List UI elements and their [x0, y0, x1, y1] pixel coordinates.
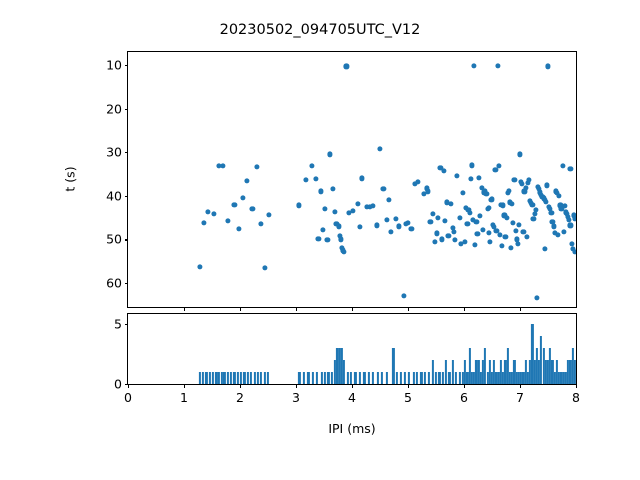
scatter-point	[325, 238, 330, 243]
histogram-bar	[237, 372, 239, 384]
histogram-bar	[264, 372, 266, 384]
histogram-bar	[396, 372, 398, 384]
scatter-point	[551, 224, 556, 229]
scatter-point	[448, 202, 453, 207]
histogram-bar	[372, 372, 374, 384]
scatter-point	[516, 222, 521, 227]
scatter-point	[515, 241, 520, 246]
scatter-point	[240, 195, 245, 200]
histogram-bar	[404, 372, 406, 384]
histogram-bar	[458, 372, 460, 384]
scatter-point	[555, 232, 560, 237]
scatter-point	[357, 225, 362, 230]
histogram-bar	[205, 372, 207, 384]
scatter-point	[499, 243, 504, 248]
scatter-point	[532, 212, 537, 217]
scatter-point	[344, 64, 349, 69]
scatter-point	[463, 239, 468, 244]
scatter-point	[511, 220, 516, 225]
histogram-x-tick-label: 4	[348, 390, 356, 405]
matplotlib-figure: 20230502_094705UTC_V12 t (s) 10203040506…	[0, 0, 640, 480]
histogram-bar	[212, 372, 214, 384]
scatter-point	[560, 164, 565, 169]
histogram-bar	[218, 372, 220, 384]
scatter-point	[250, 206, 255, 211]
scatter-point	[426, 189, 431, 194]
scatter-point	[430, 212, 435, 217]
histogram-y-tick-label: 5	[114, 316, 122, 331]
scatter-point	[351, 209, 356, 214]
histogram-bar	[298, 372, 300, 384]
histogram-bar	[307, 372, 309, 384]
scatter-point	[484, 191, 489, 196]
scatter-point	[384, 217, 389, 222]
histogram-bar	[346, 372, 348, 384]
histogram-x-tick	[240, 384, 241, 388]
scatter-y-tick	[125, 196, 129, 197]
scatter-point	[197, 264, 202, 269]
histogram-x-tick	[352, 384, 353, 388]
scatter-point	[486, 230, 491, 235]
scatter-point	[432, 239, 437, 244]
scatter-point	[562, 204, 567, 209]
scatter-plot-axes: 102030405060	[127, 51, 577, 308]
scatter-point	[572, 249, 576, 254]
histogram-x-tick	[408, 384, 409, 388]
scatter-point	[333, 209, 338, 214]
scatter-point	[211, 212, 216, 217]
scatter-point	[503, 234, 508, 239]
scatter-point	[506, 188, 511, 193]
scatter-point	[523, 185, 528, 190]
scatter-point	[327, 152, 332, 157]
histogram-bar	[250, 372, 252, 384]
histogram-bar	[230, 372, 232, 384]
histogram-x-tick	[184, 384, 185, 388]
scatter-point	[473, 242, 478, 247]
histogram-bar	[420, 372, 422, 384]
scatter-point	[487, 239, 492, 244]
scatter-point	[469, 163, 474, 168]
scatter-point	[568, 166, 573, 171]
scatter-x-tick	[408, 307, 409, 311]
scatter-point	[205, 209, 210, 214]
scatter-y-tick-label: 50	[106, 232, 122, 247]
scatter-point	[465, 221, 470, 226]
histogram-x-tick	[464, 384, 465, 388]
scatter-point	[259, 222, 264, 227]
histogram-bar	[199, 372, 201, 384]
scatter-point	[471, 63, 476, 68]
page-title: 20230502_094705UTC_V12	[0, 22, 640, 38]
histogram-x-tick-label: 5	[404, 390, 412, 405]
histogram-bar	[438, 372, 440, 384]
histogram-bar-layer	[128, 314, 576, 384]
scatter-y-tick	[125, 283, 129, 284]
scatter-point	[403, 222, 408, 227]
scatter-point	[501, 203, 506, 208]
scatter-point	[495, 63, 500, 68]
scatter-point	[201, 220, 206, 225]
scatter-point	[441, 168, 446, 173]
scatter-point	[316, 236, 321, 241]
scatter-point	[436, 215, 441, 220]
histogram-bar	[413, 372, 415, 384]
histogram-bar	[324, 372, 326, 384]
scatter-y-tick	[125, 239, 129, 240]
histogram-bar	[202, 372, 204, 384]
histogram-bar	[331, 372, 333, 384]
scatter-point	[267, 212, 272, 217]
histogram-bar	[445, 360, 447, 384]
histogram-x-tick-label: 2	[236, 390, 244, 405]
histogram-x-tick-label: 1	[180, 390, 188, 405]
x-axis-label: IPI (ms)	[328, 421, 375, 436]
histogram-bar	[253, 372, 255, 384]
scatter-y-tick-label: 30	[106, 145, 122, 160]
scatter-point	[296, 203, 301, 208]
scatter-point	[486, 205, 491, 210]
scatter-y-axis-label: t (s)	[63, 166, 78, 191]
scatter-point	[557, 193, 562, 198]
histogram-bar	[354, 372, 356, 384]
histogram-bar	[350, 372, 352, 384]
histogram-bar	[209, 372, 211, 384]
scatter-point	[401, 294, 406, 299]
scatter-point	[517, 152, 522, 157]
scatter-point	[567, 217, 572, 222]
scatter-point	[504, 215, 509, 220]
scatter-point	[475, 232, 480, 237]
histogram-bar	[240, 372, 242, 384]
scatter-y-tick-label: 60	[106, 276, 122, 291]
scatter-point	[323, 206, 328, 211]
scatter-y-tick-label: 10	[106, 58, 122, 73]
scatter-point	[377, 146, 382, 151]
histogram-bar	[227, 372, 229, 384]
histogram-bar	[223, 372, 225, 384]
scatter-point	[314, 177, 319, 182]
scatter-point	[371, 203, 376, 208]
scatter-point	[561, 229, 566, 234]
scatter-x-tick	[240, 307, 241, 311]
histogram-bar	[448, 372, 450, 384]
scatter-point	[544, 183, 549, 188]
histogram-bar	[359, 372, 361, 384]
scatter-x-tick	[464, 307, 465, 311]
scatter-point	[330, 187, 335, 192]
scatter-point	[572, 216, 576, 221]
scatter-point	[303, 177, 308, 182]
histogram-bar	[303, 372, 305, 384]
scatter-point	[415, 179, 420, 184]
scatter-point	[355, 201, 360, 206]
histogram-bar	[455, 372, 457, 384]
histogram-bar	[408, 372, 410, 384]
scatter-point	[374, 223, 379, 228]
scatter-point	[381, 187, 386, 192]
histogram-bar	[428, 372, 430, 384]
histogram-bar	[247, 372, 249, 384]
histogram-bar	[260, 372, 262, 384]
scatter-point	[342, 249, 347, 254]
scatter-point	[524, 234, 529, 239]
histogram-bar	[392, 348, 394, 384]
histogram-x-tick-label: 0	[124, 390, 132, 405]
scatter-point	[338, 237, 343, 242]
scatter-point	[460, 191, 465, 196]
scatter-point	[435, 231, 440, 236]
scatter-point	[545, 64, 550, 69]
scatter-point	[393, 216, 398, 221]
scatter-point	[318, 189, 323, 194]
scatter-point	[386, 198, 391, 203]
scatter-point	[446, 233, 451, 238]
scatter-point	[512, 178, 517, 183]
histogram-bar	[343, 360, 345, 384]
histogram-bar	[312, 372, 314, 384]
scatter-point	[480, 227, 485, 232]
histogram-x-tick-label: 7	[516, 390, 524, 405]
scatter-point-layer	[128, 52, 576, 307]
scatter-y-tick	[125, 152, 129, 153]
histogram-bar	[363, 372, 365, 384]
scatter-point	[336, 224, 341, 229]
scatter-point	[225, 219, 230, 224]
scatter-point	[510, 201, 515, 206]
histogram-bar	[377, 372, 379, 384]
histogram-bar	[243, 372, 245, 384]
scatter-point	[455, 174, 460, 179]
histogram-bar	[233, 372, 235, 384]
histogram-x-tick-label: 8	[572, 390, 580, 405]
scatter-point	[221, 163, 226, 168]
histogram-bar	[381, 372, 383, 384]
histogram-x-tick-label: 6	[460, 390, 468, 405]
histogram-x-tick	[296, 384, 297, 388]
scatter-point	[439, 237, 444, 242]
scatter-point	[244, 178, 249, 183]
histogram-bar	[435, 372, 437, 384]
histogram-x-tick-label: 3	[292, 390, 300, 405]
histogram-bar	[267, 372, 269, 384]
scatter-x-tick	[352, 307, 353, 311]
scatter-point	[477, 213, 482, 218]
histogram-bar	[432, 360, 434, 384]
scatter-point	[526, 178, 531, 183]
histogram-bar	[574, 360, 576, 384]
scatter-y-tick-label: 20	[106, 101, 122, 116]
scatter-point	[396, 224, 401, 229]
scatter-point	[549, 211, 554, 216]
histogram-x-tick	[576, 384, 577, 388]
histogram-x-tick	[520, 384, 521, 388]
scatter-point	[232, 202, 237, 207]
scatter-point	[508, 246, 513, 251]
scatter-point	[533, 207, 538, 212]
scatter-point	[568, 223, 573, 228]
histogram-y-tick	[125, 324, 129, 325]
scatter-point	[497, 232, 502, 237]
histogram-bar	[416, 372, 418, 384]
scatter-x-tick	[296, 307, 297, 311]
histogram-bar	[327, 372, 329, 384]
scatter-point	[542, 246, 547, 251]
scatter-point	[428, 219, 433, 224]
scatter-point	[489, 197, 494, 202]
scatter-point	[389, 229, 394, 234]
histogram-bar	[321, 372, 323, 384]
scatter-point	[359, 176, 364, 181]
scatter-point	[493, 167, 498, 172]
histogram-bar	[424, 372, 426, 384]
histogram-bar	[452, 360, 454, 384]
scatter-point	[309, 164, 314, 169]
scatter-point	[476, 175, 481, 180]
histogram-bar	[442, 372, 444, 384]
scatter-point	[236, 226, 241, 231]
scatter-point	[467, 211, 472, 216]
scatter-point	[513, 228, 518, 233]
scatter-point	[468, 177, 473, 182]
histogram-y-tick-label: 0	[114, 377, 122, 392]
scatter-point	[409, 226, 414, 231]
histogram-bar	[257, 372, 259, 384]
scatter-point	[254, 164, 259, 169]
histogram-bar	[386, 372, 388, 384]
scatter-point	[320, 227, 325, 232]
scatter-point	[531, 216, 536, 221]
scatter-x-tick	[520, 307, 521, 311]
histogram-axes: 05012345678	[127, 313, 577, 385]
scatter-point	[442, 219, 447, 224]
histogram-bar	[400, 372, 402, 384]
scatter-point	[534, 296, 539, 301]
scatter-y-tick-label: 40	[106, 188, 122, 203]
scatter-point	[452, 238, 457, 243]
scatter-y-tick	[125, 109, 129, 110]
scatter-x-tick	[184, 307, 185, 311]
scatter-y-tick	[125, 65, 129, 66]
histogram-bar	[316, 372, 318, 384]
histogram-bar	[368, 372, 370, 384]
histogram-x-tick	[128, 384, 129, 388]
scatter-point	[457, 215, 462, 220]
scatter-point	[262, 265, 267, 270]
